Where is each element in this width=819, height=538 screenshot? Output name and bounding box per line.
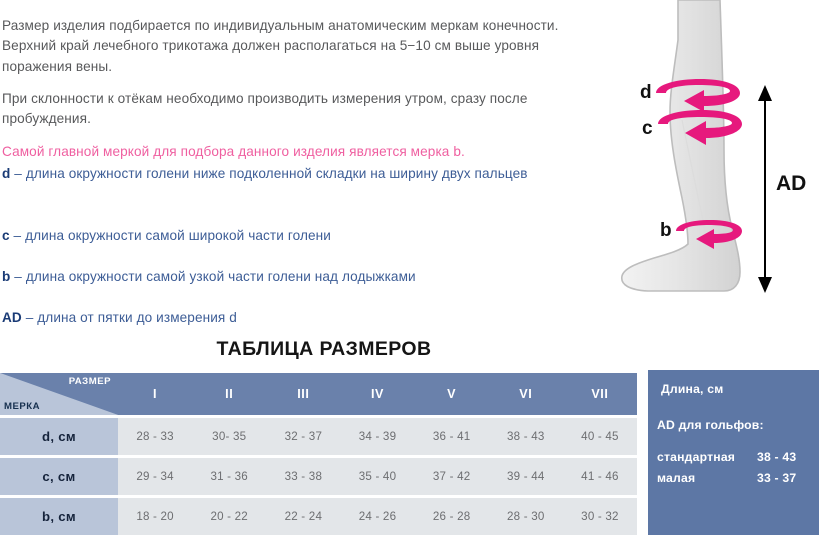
cell-d-5: 36 - 41 bbox=[415, 418, 489, 455]
instructions-text-column: Размер изделия подбирается по индивидуал… bbox=[0, 0, 612, 332]
measurement-dash-b: – bbox=[10, 269, 25, 284]
band-label-d: d bbox=[640, 82, 652, 103]
cell-b-6: 28 - 30 bbox=[489, 498, 563, 535]
cell-b-4: 24 - 26 bbox=[340, 498, 414, 535]
intro-paragraph-1: Размер изделия подбирается по индивидуал… bbox=[2, 16, 602, 78]
cell-d-7: 40 - 45 bbox=[563, 418, 637, 455]
measurement-definition-ad: AD – длина от пятки до измерения d bbox=[2, 308, 602, 329]
band-label-c: c bbox=[642, 118, 653, 139]
column-header-2: II bbox=[192, 373, 266, 415]
leg-silhouette-shape bbox=[622, 0, 740, 291]
column-header-3: III bbox=[266, 373, 340, 415]
cell-c-4: 35 - 40 bbox=[340, 458, 414, 495]
measurement-key-c: c bbox=[2, 228, 10, 243]
cell-c-2: 31 - 36 bbox=[192, 458, 266, 495]
size-table-header-row: РАЗМЕР МЕРКА I II III IV V VI VII bbox=[0, 373, 637, 415]
corner-size-label: РАЗМЕР bbox=[69, 376, 111, 387]
cell-d-6: 38 - 43 bbox=[489, 418, 563, 455]
corner-merka-label: МЕРКА bbox=[4, 401, 40, 412]
row-label-d: d, см bbox=[0, 418, 118, 455]
column-header-7: VII bbox=[563, 373, 637, 415]
measurement-text-c: длина окружности самой широкой части гол… bbox=[25, 228, 331, 243]
length-standard-value: 38 - 43 bbox=[757, 450, 796, 464]
length-small-name: малая bbox=[657, 471, 757, 485]
cell-c-3: 33 - 38 bbox=[266, 458, 340, 495]
table-corner-header: РАЗМЕР МЕРКА bbox=[0, 373, 118, 415]
key-measurement-note: Самой главной меркой для подбора данного… bbox=[2, 142, 602, 163]
cell-c-7: 41 - 46 bbox=[563, 458, 637, 495]
table-row: b, см 18 - 20 20 - 22 22 - 24 24 - 26 26… bbox=[0, 498, 637, 535]
measurement-definition-c: c – длина окружности самой широкой части… bbox=[2, 226, 602, 247]
row-label-c: c, см bbox=[0, 458, 118, 495]
measurement-key-ad: AD bbox=[2, 310, 22, 325]
ad-dimension-arrow-icon bbox=[758, 85, 772, 293]
table-row: c, см 29 - 34 31 - 36 33 - 38 35 - 40 37… bbox=[0, 458, 637, 495]
length-panel-title: Длина, см bbox=[661, 382, 723, 396]
column-header-1: I bbox=[118, 373, 192, 415]
length-panel-subtitle: AD для гольфов: bbox=[657, 418, 764, 432]
cell-c-6: 39 - 44 bbox=[489, 458, 563, 495]
measurement-text-ad: длина от пятки до измерения d bbox=[37, 310, 237, 325]
measurement-dash-ad: – bbox=[22, 310, 37, 325]
length-standard-name: стандартная bbox=[657, 450, 757, 464]
measurement-dash-c: – bbox=[10, 228, 25, 243]
cell-d-4: 34 - 39 bbox=[340, 418, 414, 455]
cell-b-7: 30 - 32 bbox=[563, 498, 637, 535]
measurement-text-b: длина окружности самой узкой части голен… bbox=[26, 269, 416, 284]
column-header-5: V bbox=[415, 373, 489, 415]
cell-c-1: 29 - 34 bbox=[118, 458, 192, 495]
ad-dimension-label: AD bbox=[776, 172, 806, 195]
length-panel-row-small: малая33 - 37 bbox=[657, 471, 813, 485]
cell-d-3: 32 - 37 bbox=[266, 418, 340, 455]
cell-b-2: 20 - 22 bbox=[192, 498, 266, 535]
measurement-text-d: длина окружности голени ниже подколенной… bbox=[26, 166, 528, 181]
measurement-definition-b: b – длина окружности самой узкой части г… bbox=[2, 267, 602, 288]
measurement-band-d-icon bbox=[656, 79, 740, 112]
band-label-b: b bbox=[660, 220, 672, 241]
cell-b-3: 22 - 24 bbox=[266, 498, 340, 535]
measurement-dash-d: – bbox=[10, 166, 25, 181]
column-header-6: VI bbox=[489, 373, 563, 415]
table-row: d, см 28 - 33 30- 35 32 - 37 34 - 39 36 … bbox=[0, 418, 637, 455]
length-small-value: 33 - 37 bbox=[757, 471, 796, 485]
leg-measurement-diagram: d c b AD bbox=[612, 0, 819, 332]
cell-c-5: 37 - 42 bbox=[415, 458, 489, 495]
size-table-title: ТАБЛИЦА РАЗМЕРОВ bbox=[0, 338, 648, 361]
cell-b-1: 18 - 20 bbox=[118, 498, 192, 535]
column-header-4: IV bbox=[340, 373, 414, 415]
cell-b-5: 26 - 28 bbox=[415, 498, 489, 535]
size-table: РАЗМЕР МЕРКА I II III IV V VI VII d, см … bbox=[0, 370, 637, 538]
measurement-definition-d: d – длина окружности голени ниже подколе… bbox=[2, 164, 602, 185]
cell-d-2: 30- 35 bbox=[192, 418, 266, 455]
row-label-b: b, см bbox=[0, 498, 118, 535]
intro-paragraph-2: При склонности к отёкам необходимо произ… bbox=[2, 89, 602, 130]
length-info-panel: Длина, см AD для гольфов: стандартная38 … bbox=[648, 370, 819, 535]
length-panel-row-standard: стандартная38 - 43 bbox=[657, 450, 813, 464]
cell-d-1: 28 - 33 bbox=[118, 418, 192, 455]
